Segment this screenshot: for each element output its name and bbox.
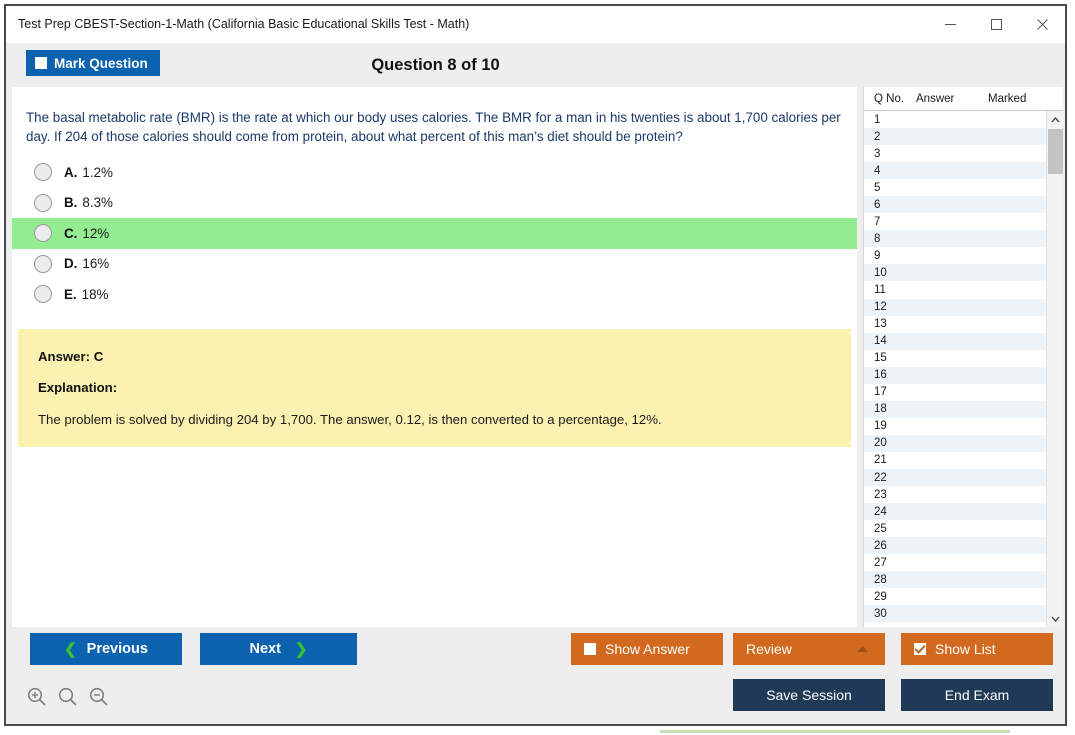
question-number: 26 (864, 540, 916, 552)
question-list-row[interactable]: 18 (864, 401, 1046, 418)
zoom-out-icon[interactable] (88, 686, 110, 708)
bottom-toolbar: ❮ Previous Next ❯ Show Answer Review Sho… (12, 629, 1063, 679)
question-number: 16 (864, 369, 916, 381)
question-number: 6 (864, 199, 916, 211)
radio-button[interactable] (34, 255, 52, 273)
column-header-answer: Answer (916, 93, 988, 105)
show-list-button[interactable]: Show List (901, 633, 1053, 665)
bottom-accent-line (660, 730, 1010, 733)
question-number: 10 (864, 267, 916, 279)
question-number: 20 (864, 437, 916, 449)
question-number: 12 (864, 301, 916, 313)
option-letter: B. (64, 195, 77, 210)
question-list-row[interactable]: 28 (864, 571, 1046, 588)
answer-option-c[interactable]: C.12% (12, 218, 857, 249)
window-title: Test Prep CBEST-Section-1-Math (Californ… (18, 17, 469, 31)
question-list-row[interactable]: 20 (864, 435, 1046, 452)
show-answer-checkbox[interactable] (584, 643, 596, 655)
explanation-body: The problem is solved by dividing 204 by… (38, 411, 831, 429)
chevron-right-icon: ❯ (295, 640, 308, 658)
question-number: 2 (864, 131, 916, 143)
mark-question-label: Mark Question (54, 56, 148, 71)
mark-question-checkbox[interactable] (35, 57, 47, 69)
question-number: 19 (864, 420, 916, 432)
previous-label: Previous (87, 641, 148, 657)
column-header-qno: Q No. (864, 93, 916, 105)
question-number: 1 (864, 114, 916, 126)
question-list-row[interactable]: 7 (864, 213, 1046, 230)
next-button[interactable]: Next ❯ (200, 633, 357, 665)
question-list-row[interactable]: 10 (864, 264, 1046, 281)
question-text: The basal metabolic rate (BMR) is the ra… (26, 108, 846, 146)
question-list-row[interactable]: 8 (864, 230, 1046, 247)
question-number: 21 (864, 454, 916, 466)
question-list-row[interactable]: 19 (864, 418, 1046, 435)
question-list-row[interactable]: 27 (864, 554, 1046, 571)
end-exam-button[interactable]: End Exam (901, 679, 1053, 711)
question-number: 23 (864, 489, 916, 501)
question-list-row[interactable]: 26 (864, 537, 1046, 554)
option-text: 12% (82, 226, 109, 241)
close-icon (1036, 18, 1049, 31)
question-list-row[interactable]: 25 (864, 520, 1046, 537)
answer-label: Answer: C (38, 349, 831, 364)
option-letter: C. (64, 226, 77, 241)
question-number: 17 (864, 386, 916, 398)
option-text: 8.3% (82, 195, 113, 210)
answer-option-e[interactable]: E.18% (12, 279, 857, 310)
answer-option-d[interactable]: D.16% (12, 249, 857, 280)
scroll-up-button[interactable] (1047, 111, 1064, 128)
option-letter: D. (64, 256, 77, 271)
question-number: 28 (864, 574, 916, 586)
question-list-row[interactable]: 12 (864, 299, 1046, 316)
question-number: 4 (864, 165, 916, 177)
question-number: 24 (864, 506, 916, 518)
question-number: 14 (864, 335, 916, 347)
question-list-row[interactable]: 30 (864, 605, 1046, 622)
review-dropdown[interactable]: Review (733, 633, 885, 665)
option-letter: A. (64, 165, 77, 180)
question-number: 30 (864, 608, 916, 620)
radio-button[interactable] (34, 285, 52, 303)
question-number: 13 (864, 318, 916, 330)
question-list-row[interactable]: 4 (864, 162, 1046, 179)
question-number: 7 (864, 216, 916, 228)
previous-button[interactable]: ❮ Previous (30, 633, 182, 665)
option-text: 18% (82, 287, 109, 302)
next-label: Next (249, 641, 280, 657)
question-list-row[interactable]: 16 (864, 367, 1046, 384)
question-number: 22 (864, 472, 916, 484)
explanation-label: Explanation: (38, 380, 831, 395)
question-number: 3 (864, 148, 916, 160)
chevron-down-icon (1051, 616, 1060, 622)
save-session-label: Save Session (766, 687, 852, 703)
option-letter: E. (64, 287, 77, 302)
question-number: 27 (864, 557, 916, 569)
answer-option-b[interactable]: B.8.3% (12, 188, 857, 219)
zoom-in-icon[interactable] (26, 686, 48, 708)
minimize-button[interactable] (927, 6, 973, 43)
question-list-row[interactable]: 1 (864, 111, 1046, 128)
column-header-marked: Marked (988, 93, 1058, 105)
title-bar: Test Prep CBEST-Section-1-Math (Californ… (6, 6, 1065, 43)
explanation-panel: Answer: C Explanation: The problem is so… (18, 329, 851, 447)
show-answer-label: Show Answer (605, 641, 690, 657)
question-list-scrollbar[interactable] (1046, 111, 1063, 627)
page-title: Question 8 of 10 (6, 43, 1065, 87)
question-number: 11 (864, 284, 916, 296)
question-list-row[interactable]: 17 (864, 384, 1046, 401)
window-controls (927, 6, 1065, 43)
question-list-panel: Q No. Answer Marked 12345678910111213141… (863, 87, 1063, 627)
question-list-rows[interactable]: 1234567891011121314151617181920212223242… (864, 111, 1046, 627)
minimize-icon (944, 18, 957, 31)
question-list-row[interactable]: 22 (864, 469, 1046, 486)
radio-button[interactable] (34, 163, 52, 181)
question-number: 5 (864, 182, 916, 194)
end-exam-label: End Exam (945, 687, 1010, 703)
question-list-row[interactable]: 9 (864, 247, 1046, 264)
question-number: 29 (864, 591, 916, 603)
question-number: 9 (864, 250, 916, 262)
question-list-row[interactable]: 15 (864, 350, 1046, 367)
question-number: 25 (864, 523, 916, 535)
zoom-controls (26, 686, 110, 708)
app-root: Test Prep CBEST-Section-1-Math (Californ… (0, 0, 1075, 735)
save-session-button[interactable]: Save Session (733, 679, 885, 711)
question-number: 8 (864, 233, 916, 245)
question-list-row[interactable]: 24 (864, 503, 1046, 520)
question-list-row[interactable]: 5 (864, 179, 1046, 196)
chevron-up-icon (1051, 117, 1060, 123)
question-list-row[interactable]: 14 (864, 333, 1046, 350)
chevron-left-icon: ❮ (64, 640, 77, 658)
question-list-row[interactable]: 6 (864, 196, 1046, 213)
radio-button[interactable] (34, 194, 52, 212)
maximize-button[interactable] (973, 6, 1019, 43)
option-text: 16% (82, 256, 109, 271)
question-number: 15 (864, 352, 916, 364)
header-band: Mark Question Question 8 of 10 (6, 43, 1065, 87)
question-list-row[interactable]: 23 (864, 486, 1046, 503)
question-list-row[interactable]: 3 (864, 145, 1046, 162)
caret-up-icon (856, 645, 869, 653)
radio-button[interactable] (34, 224, 52, 242)
show-list-checkbox[interactable] (914, 643, 926, 655)
answer-options-list: A.1.2%B.8.3%C.12%D.16%E.18% (12, 157, 857, 310)
review-label: Review (746, 641, 792, 657)
maximize-icon (990, 18, 1003, 31)
question-panel: The basal metabolic rate (BMR) is the ra… (12, 87, 857, 627)
question-list-row[interactable]: 13 (864, 316, 1046, 333)
scrollbar-thumb[interactable] (1048, 129, 1063, 174)
question-list-header: Q No. Answer Marked (864, 87, 1063, 111)
show-answer-button[interactable]: Show Answer (571, 633, 723, 665)
question-number: 18 (864, 403, 916, 415)
option-text: 1.2% (82, 165, 113, 180)
question-list-row[interactable]: 29 (864, 588, 1046, 605)
mark-question-button[interactable]: Mark Question (26, 50, 160, 76)
question-list-row[interactable]: 2 (864, 128, 1046, 145)
answer-option-a[interactable]: A.1.2% (12, 157, 857, 188)
question-list-row[interactable]: 11 (864, 281, 1046, 298)
show-list-label: Show List (935, 641, 996, 657)
zoom-reset-icon[interactable] (57, 686, 79, 708)
exam-window: Test Prep CBEST-Section-1-Math (Californ… (4, 4, 1067, 726)
close-button[interactable] (1019, 6, 1065, 43)
scroll-down-button[interactable] (1047, 610, 1064, 627)
question-list-row[interactable]: 21 (864, 452, 1046, 469)
